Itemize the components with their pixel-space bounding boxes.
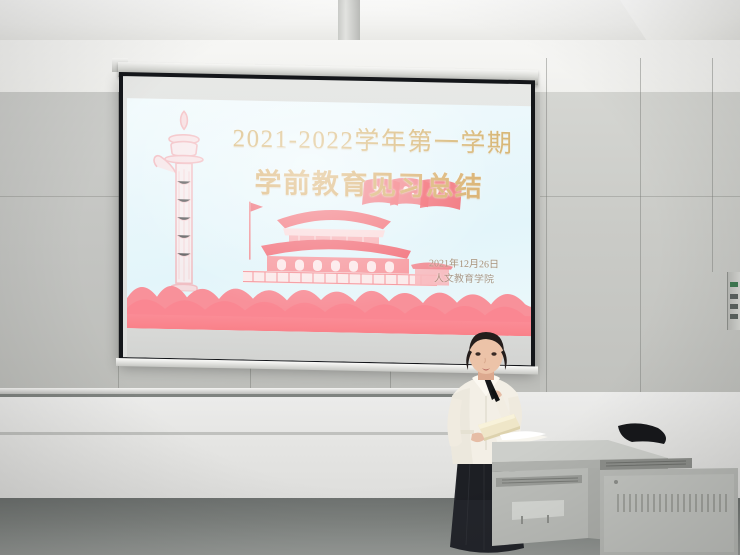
wall-seam-line <box>0 432 470 435</box>
classroom-photo-scene: 2021-2022学年第一学期 学前教育见习总结 2021年12月26日 人文教… <box>0 0 740 555</box>
projection-screen[interactable]: 2021-2022学年第一学期 学前教育见习总结 2021年12月26日 人文教… <box>119 72 535 369</box>
black-cable <box>618 423 666 444</box>
slide-date: 2021年12月26日 <box>429 256 499 272</box>
tile-seam <box>0 196 120 197</box>
cabinet-lock-icon <box>614 480 618 484</box>
whiteboard-ledge-shadow <box>0 394 480 397</box>
tile-seam <box>540 196 740 197</box>
tile-seam <box>640 58 641 392</box>
wall-control-panel[interactable] <box>727 272 740 330</box>
panel-switch <box>730 314 738 319</box>
panel-indicator-green <box>730 282 738 287</box>
screen-surface: 2021-2022学年第一学期 学前教育见习总结 2021年12月26日 人文教… <box>123 76 531 365</box>
tile-seam <box>712 58 713 272</box>
presentation-slide: 2021-2022学年第一学期 学前教育见习总结 2021年12月26日 人文教… <box>127 98 531 336</box>
slide-meta: 2021年12月26日 人文教育学院 <box>429 256 499 287</box>
slide-organization: 人文教育学院 <box>429 271 499 287</box>
panel-switch <box>730 294 738 299</box>
lectern[interactable] <box>492 420 740 555</box>
panel-switch <box>730 304 738 309</box>
